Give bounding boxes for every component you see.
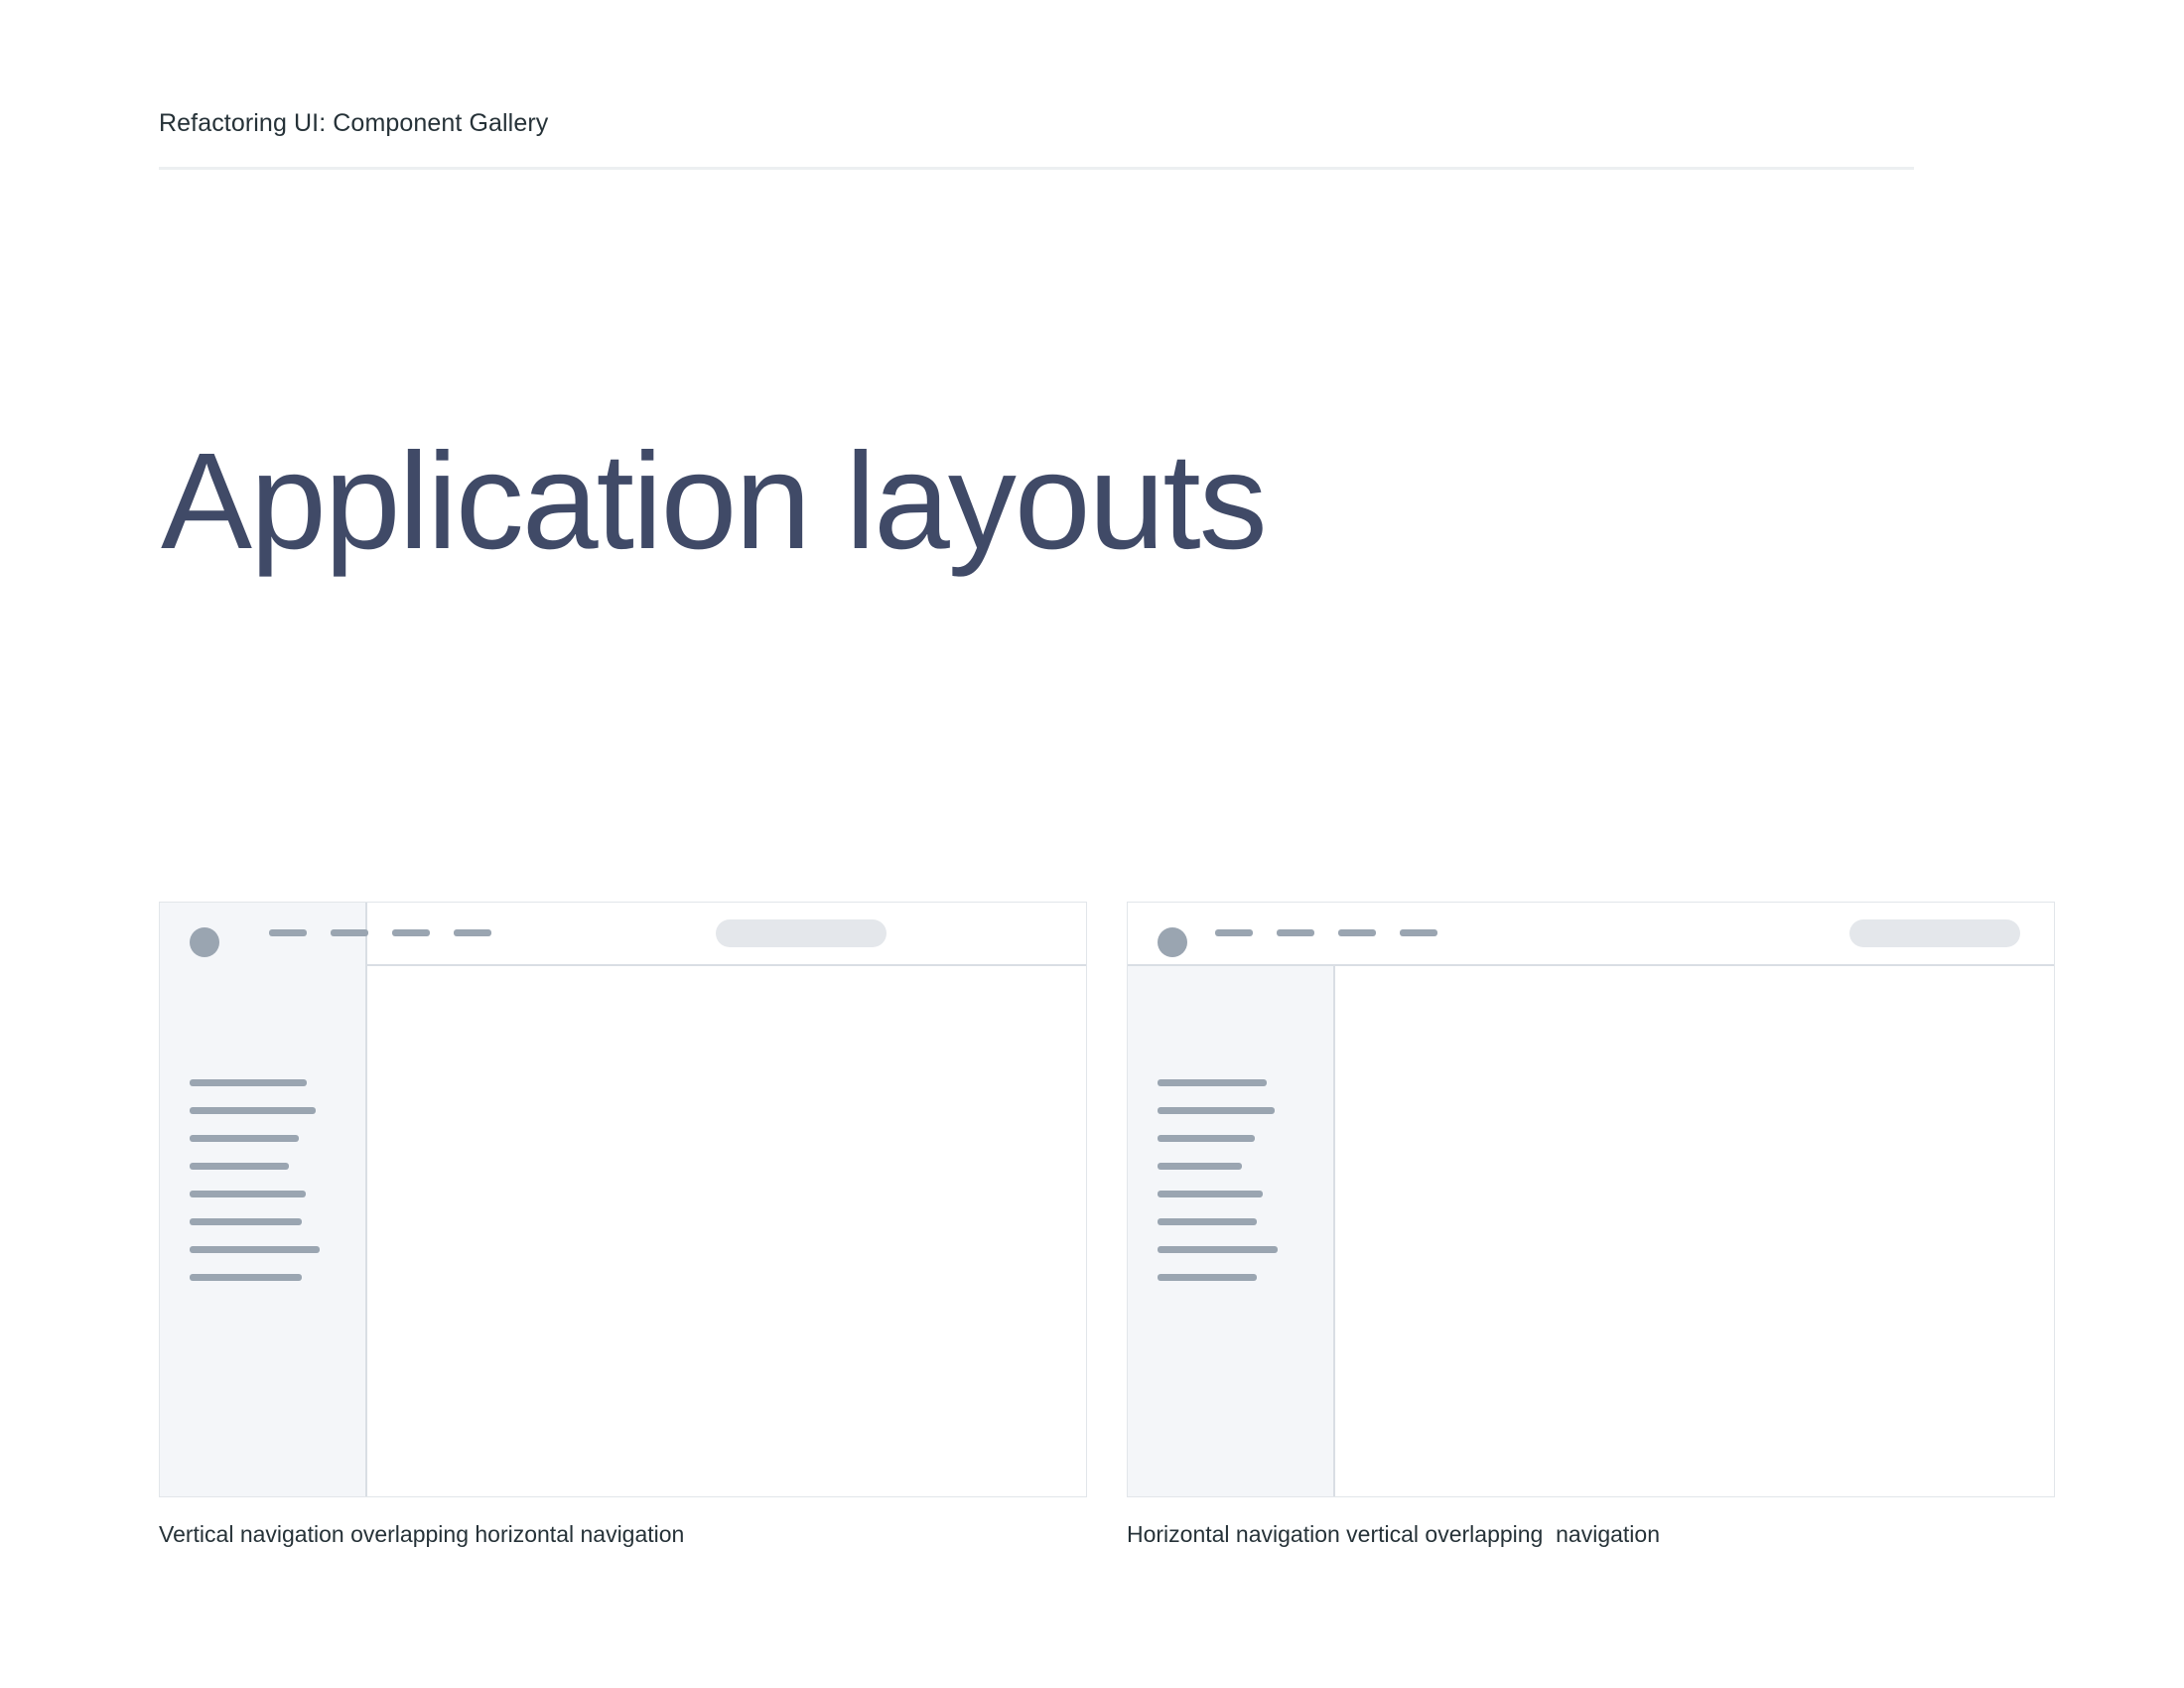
layout-preview-vertical-overlapping[interactable] — [159, 902, 1087, 1497]
sidebar-item-2[interactable] — [1158, 1107, 1275, 1114]
mockup-caption: Horizontal navigation vertical overlappi… — [1127, 1519, 2055, 1549]
page-header: Refactoring UI: Component Gallery — [159, 107, 1914, 139]
header-divider — [159, 167, 1914, 170]
sidebar-item-3[interactable] — [190, 1135, 299, 1142]
sidebar-panel — [1128, 966, 1334, 1497]
sidebar-item-8[interactable] — [190, 1274, 302, 1281]
mockup-gallery: Vertical navigation overlapping horizont… — [159, 902, 2055, 1549]
sidebar-item-5[interactable] — [1158, 1191, 1263, 1197]
gallery-page: Refactoring UI: Component Gallery Applic… — [0, 0, 2184, 1688]
topnav-item-3[interactable] — [392, 929, 430, 936]
page-title: Application layouts — [161, 427, 1266, 576]
sidebar-item-4[interactable] — [190, 1163, 289, 1170]
mockup-caption: Vertical navigation overlapping horizont… — [159, 1519, 1087, 1549]
topnav-item-1[interactable] — [1215, 929, 1253, 936]
mockup-cell-vertical-overlapping: Vertical navigation overlapping horizont… — [159, 902, 1087, 1549]
sidebar-item-5[interactable] — [190, 1191, 306, 1197]
sidebar-item-8[interactable] — [1158, 1274, 1257, 1281]
sidebar-item-3[interactable] — [1158, 1135, 1255, 1142]
logo-icon — [1158, 927, 1187, 957]
topbar-divider — [366, 964, 1087, 966]
topnav-item-4[interactable] — [1400, 929, 1437, 936]
search-input[interactable] — [1849, 919, 2020, 947]
sidebar-divider — [365, 903, 367, 1497]
sidebar-item-1[interactable] — [1158, 1079, 1267, 1086]
layout-preview-horizontal-overlapping[interactable] — [1127, 902, 2055, 1497]
sidebar-item-6[interactable] — [190, 1218, 302, 1225]
sidebar-item-1[interactable] — [190, 1079, 307, 1086]
sidebar-item-4[interactable] — [1158, 1163, 1242, 1170]
logo-icon — [190, 927, 219, 957]
sidebar-item-6[interactable] — [1158, 1218, 1257, 1225]
sidebar-item-7[interactable] — [190, 1246, 320, 1253]
topnav-item-3[interactable] — [1338, 929, 1376, 936]
sidebar-item-2[interactable] — [190, 1107, 316, 1114]
search-input[interactable] — [716, 919, 887, 947]
sidebar-item-7[interactable] — [1158, 1246, 1278, 1253]
sidebar-divider — [1333, 966, 1335, 1497]
breadcrumb: Refactoring UI: Component Gallery — [159, 107, 1914, 139]
topnav-item-2[interactable] — [331, 929, 368, 936]
topnav-item-1[interactable] — [269, 929, 307, 936]
sidebar-panel — [160, 903, 366, 1497]
topnav-item-4[interactable] — [454, 929, 491, 936]
topnav-item-2[interactable] — [1277, 929, 1314, 936]
mockup-cell-horizontal-overlapping: Horizontal navigation vertical overlappi… — [1127, 902, 2055, 1549]
